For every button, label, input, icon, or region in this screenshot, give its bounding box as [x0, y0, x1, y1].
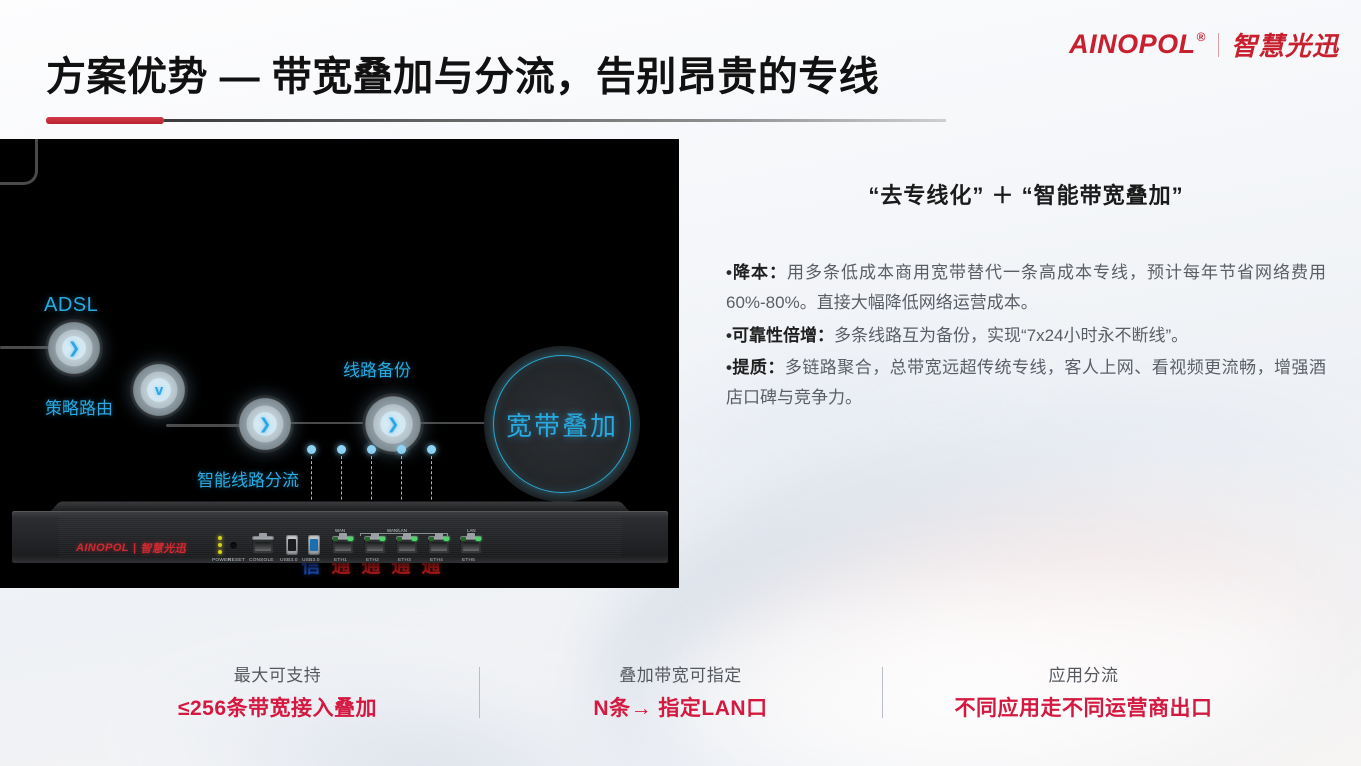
- activity-led-icon: [412, 537, 417, 541]
- link-segment-2: [166, 424, 246, 427]
- spec-divider-2: [882, 667, 883, 718]
- activity-led-icon: [444, 537, 449, 541]
- content-headline: “去专线化” ＋ “智能带宽叠加”: [716, 178, 1336, 210]
- eth-port-4: [428, 536, 450, 554]
- logo-divider: [1218, 33, 1219, 57]
- node-policy-routing: v: [130, 361, 188, 419]
- eth-port-2: [364, 536, 386, 554]
- status-led-icon: [218, 550, 222, 554]
- label-eth1: ETH1: [334, 557, 347, 562]
- title-underline: [46, 117, 946, 124]
- usb-slot-icon: [288, 539, 296, 551]
- reset-button[interactable]: [230, 542, 237, 549]
- eth-port-1: [332, 536, 354, 554]
- arrow-down-icon: v: [155, 383, 163, 398]
- label-eth4: ETH4: [430, 557, 443, 562]
- network-appliance: AINOPOL | 智慧光迅 POWER RESET CONSOLE USB3.…: [12, 499, 668, 575]
- status-led-group: [218, 536, 222, 554]
- port-tab-icon: [371, 533, 379, 538]
- benefit-text: 多链路聚合，总带宽远超传统专线，客人上网、看视频更流畅，增强酒店口碑与竞争力。: [726, 358, 1326, 407]
- benefit-text: 多条线路互为备份，实现“7x24小时永不断线”。: [834, 326, 1188, 345]
- benefit-item-reliability: •可靠性倍增：多条线路互为备份，实现“7x24小时永不断线”。: [726, 321, 1326, 351]
- port-tab-icon: [435, 533, 443, 538]
- spec-column-capacity: 最大可支持 ≤256条带宽接入叠加: [123, 661, 433, 722]
- link-led-icon: [365, 537, 370, 541]
- spec-value: N条→ 指定LAN口: [534, 692, 828, 722]
- title-underline-line: [164, 119, 946, 122]
- eth-port-3: [396, 536, 418, 554]
- benefits-list: •降本：用多条低成本商用宽带替代一条高成本专线，预计每年节省网络费用 60%-8…: [726, 258, 1326, 415]
- spec-value: 不同应用走不同运营商出口: [937, 692, 1231, 722]
- network-topology-diagram: ADSL 策略路由 智能线路分流 线路备份 ❯ v ❯ ❯ 宽带叠加 电信 联通…: [0, 139, 679, 588]
- link-segment-3: [283, 422, 363, 424]
- port-cavity-icon: [255, 542, 271, 551]
- port-cavity-icon: [367, 542, 383, 551]
- bandwidth-aggregation-circle: 宽带叠加: [484, 346, 640, 502]
- port-tab-icon: [467, 533, 475, 538]
- benefit-text: 用多条低成本商用宽带替代一条高成本专线，预计每年节省网络费用 60%-80%。直…: [726, 263, 1326, 312]
- status-led-icon: [218, 543, 222, 547]
- benefit-item-cost: •降本：用多条低成本商用宽带替代一条高成本专线，预计每年节省网络费用 60%-8…: [726, 258, 1326, 319]
- logo-wordmark-text: AINOPOL: [1069, 29, 1196, 60]
- link-led-icon: [397, 537, 402, 541]
- activity-led-icon: [348, 537, 353, 541]
- appliance-front-panel: AINOPOL | 智慧光迅 POWER RESET CONSOLE USB3.…: [12, 511, 668, 563]
- port-cavity-icon: [399, 542, 415, 551]
- usb-port-1: [286, 535, 298, 555]
- bandwidth-aggregation-label: 宽带叠加: [506, 406, 618, 443]
- label-console: CONSOLE: [249, 557, 274, 562]
- usb-port-2: [308, 535, 320, 555]
- label-usb-2: USB3.0: [302, 557, 320, 562]
- label-usb-1: USB3.0: [280, 557, 298, 562]
- spec-subtitle: 最大可支持: [131, 661, 425, 686]
- activity-led-icon: [476, 537, 481, 541]
- port-cavity-icon: [431, 542, 447, 551]
- spec-divider-1: [479, 667, 480, 718]
- appliance-brand-mark: AINOPOL | 智慧光迅: [76, 540, 186, 556]
- logo-wordmark: AINOPOL ®: [1069, 29, 1206, 60]
- activity-led-icon: [380, 537, 385, 541]
- label-eth2: ETH2: [366, 557, 379, 562]
- label-eth3: ETH3: [398, 557, 411, 562]
- port-tab-icon: [259, 533, 267, 538]
- benefit-term: 可靠性倍增：: [732, 326, 834, 345]
- link-segment-4: [420, 422, 485, 424]
- diagram-label-smart-split: 智能线路分流: [197, 466, 299, 491]
- label-reset: RESET: [228, 557, 245, 562]
- spec-column-routing: 应用分流 不同应用走不同运营商出口: [929, 661, 1239, 722]
- benefit-term: 提质：: [732, 358, 785, 377]
- page-title: 方案优势 — 带宽叠加与分流，告别昂贵的专线: [46, 44, 879, 102]
- appliance-brand-cn: 智慧光迅: [140, 540, 186, 556]
- port-tab-icon: [339, 533, 347, 538]
- port-tab-icon: [403, 533, 411, 538]
- arrow-right-icon: ❯: [387, 417, 400, 432]
- link-led-icon: [429, 537, 434, 541]
- console-port: [252, 536, 274, 554]
- spec-value: ≤256条带宽接入叠加: [131, 692, 425, 722]
- label-eth5: ETH5: [462, 557, 475, 562]
- title-underline-accent: [46, 117, 164, 124]
- arrow-right-icon: ❯: [259, 417, 272, 432]
- diagram-label-adsl: ADSL: [44, 294, 98, 317]
- logo-chinese-name: 智慧光迅: [1231, 26, 1339, 63]
- spec-column-assignment: 叠加带宽可指定 N条→ 指定LAN口: [526, 661, 836, 722]
- node-smart-split: ❯: [236, 395, 294, 453]
- spec-subtitle: 应用分流: [937, 661, 1231, 686]
- power-led-icon: [218, 536, 222, 540]
- port-cavity-icon: [463, 542, 479, 551]
- appliance-brand-divider: |: [133, 542, 136, 554]
- link-led-icon: [333, 537, 338, 541]
- link-corner-1: [0, 139, 38, 185]
- spec-highlights: 最大可支持 ≤256条带宽接入叠加 叠加带宽可指定 N条→ 指定LAN口 应用分…: [0, 661, 1361, 722]
- spec-subtitle: 叠加带宽可指定: [534, 661, 828, 686]
- benefit-item-quality: •提质：多链路聚合，总带宽远超传统专线，客人上网、看视频更流畅，增强酒店口碑与竞…: [726, 353, 1326, 414]
- usb-slot-icon: [310, 539, 318, 551]
- benefit-term: 降本：: [732, 263, 787, 282]
- diagram-label-line-backup: 线路备份: [343, 356, 411, 381]
- eth-port-5: [460, 536, 482, 554]
- port-cavity-icon: [335, 542, 351, 551]
- arrow-right-icon: ❯: [68, 341, 81, 356]
- registered-trademark-icon: ®: [1197, 30, 1206, 44]
- brand-logo: AINOPOL ® 智慧光迅: [1069, 26, 1339, 63]
- appliance-brand-text: AINOPOL: [76, 542, 129, 554]
- node-adsl: ❯: [45, 319, 103, 377]
- link-led-icon: [461, 537, 466, 541]
- diagram-label-policy-routing: 策略路由: [45, 394, 113, 419]
